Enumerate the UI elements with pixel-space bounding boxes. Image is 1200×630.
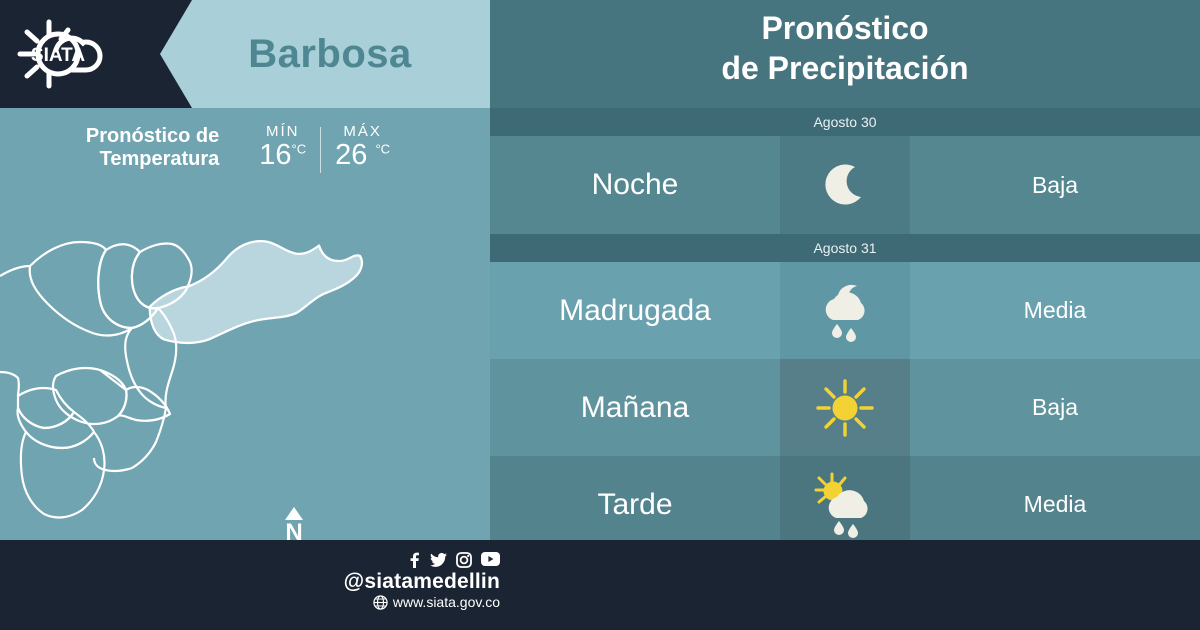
weather-forecast-poster: SIATA Barbosa Pronóstico de Temperatura … [0,0,1200,630]
probability-label: Baja [910,136,1200,234]
aburra-valley-map: N [0,180,490,540]
temperature-title: Pronóstico de Temperatura [86,125,219,171]
moon-cloud-rain-icon [780,262,910,359]
website-label: www.siata.gov.co [393,594,500,610]
temperature-min: MÍN 16°C [245,123,320,172]
map-region-edge-left [0,266,30,276]
min-unit: °C [292,141,307,156]
min-label: MÍN [266,123,300,140]
footer: @siatamedellin www.siata.gov.co Con el a… [0,540,1200,630]
sun-icon [780,359,910,456]
temperature-values: MÍN 16°C MÁX 26 °C [245,123,404,173]
max-label: MÁX [343,123,382,140]
left-header: SIATA Barbosa [0,0,490,108]
social-block: @siatamedellin www.siata.gov.co [330,552,500,610]
social-handle[interactable]: @siatamedellin [330,570,500,594]
forecast-rows: Noche Baja Agosto 31 Madrugada [490,136,1200,540]
date-bar-first: Agosto 30 [490,108,1200,136]
city-title: Barbosa [170,0,490,108]
sun-cloud-icon: SIATA [10,14,150,94]
map-region-edge-left2 [0,372,19,396]
min-value: 16°C [259,140,306,172]
forecast-row-manana[interactable]: Mañana [490,359,1200,456]
period-label: Noche [490,136,780,234]
probability-label: Media [910,262,1200,359]
siata-logo-text: SIATA [31,45,85,66]
forecast-row-noche[interactable]: Noche Baja [490,136,1200,234]
period-label: Madrugada [490,262,780,359]
instagram-icon[interactable] [456,552,472,568]
map-region-caldas [21,432,105,517]
twitter-icon[interactable] [430,552,447,568]
left-panel: SIATA Barbosa Pronóstico de Temperatura … [0,0,490,540]
globe-icon [373,595,388,610]
period-label: Tarde [490,456,780,553]
temperature-block: Pronóstico de Temperatura MÍN 16°C MÁX 2… [0,112,490,184]
social-icons [330,552,500,568]
probability-label: Media [910,456,1200,553]
youtube-icon[interactable] [481,552,500,566]
max-unit: °C [375,141,390,156]
map-region-connector-2 [94,458,132,471]
precipitation-title-line1: Pronóstico [490,8,1200,48]
sun-cloud-rain-icon [780,456,910,553]
map-svg [0,180,490,540]
temperature-title-line2: Temperatura [86,148,219,171]
map-region-barbosa [150,241,362,343]
temperature-title-line1: Pronóstico de [86,125,219,148]
website-row[interactable]: www.siata.gov.co [330,594,500,610]
siata-logo-wedge: SIATA [0,0,160,108]
max-value: 26 °C [335,140,390,172]
facebook-icon[interactable] [407,552,421,568]
precipitation-title-line2: de Precipitación [490,48,1200,88]
map-region-bello [30,242,132,335]
temperature-max: MÁX 26 °C [321,123,404,172]
map-region-connector-1 [132,408,166,468]
forecast-row-tarde[interactable]: Tarde [490,456,1200,553]
precipitation-panel: Pronóstico de Precipitación Agosto 30 No… [490,0,1200,540]
date-bar-second: Agosto 31 [490,234,1200,262]
period-label: Mañana [490,359,780,456]
precipitation-title: Pronóstico de Precipitación [490,8,1200,88]
moon-icon [780,136,910,234]
forecast-row-madrugada[interactable]: Madrugada Media [490,262,1200,359]
map-region-envigado [100,370,170,421]
probability-label: Baja [910,359,1200,456]
